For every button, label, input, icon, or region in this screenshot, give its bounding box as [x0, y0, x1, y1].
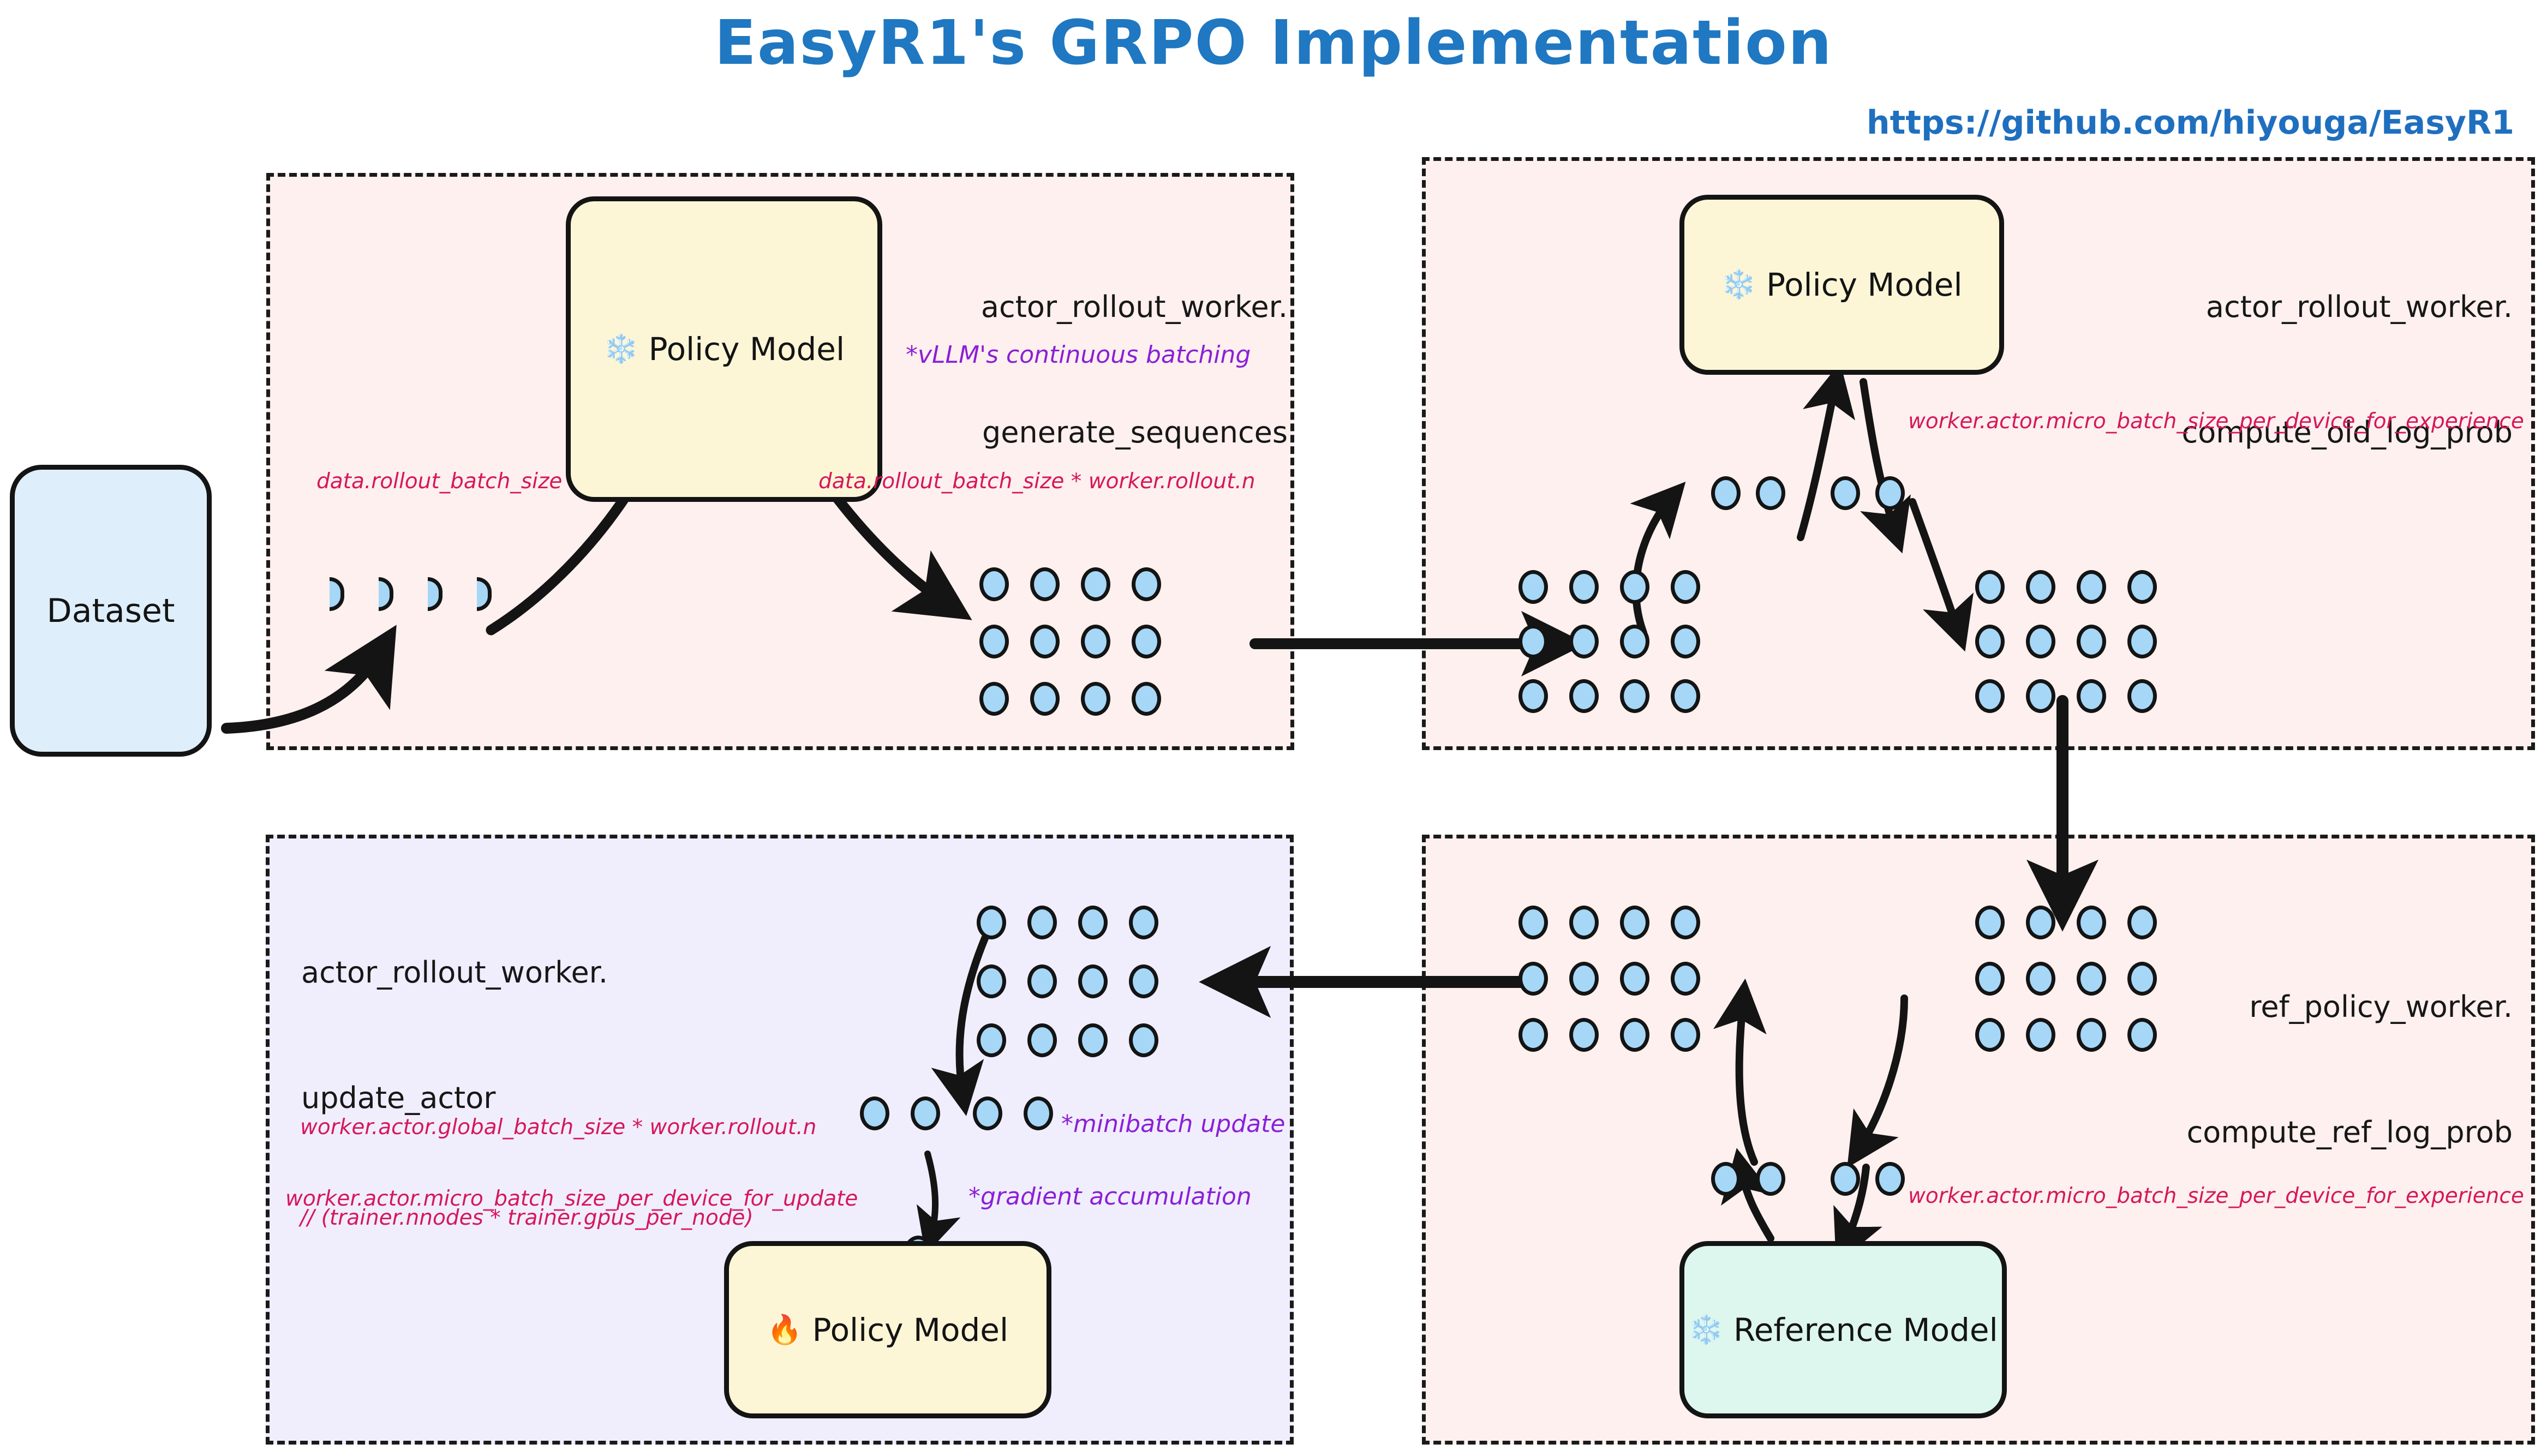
- sequence-circle: [1518, 906, 1548, 939]
- sequence-circle: [2077, 679, 2106, 713]
- sequence-circle: [1081, 625, 1110, 658]
- sequence-circle: [2077, 962, 2106, 996]
- sequence-circle: [1129, 964, 1158, 998]
- sequence-circle: [1129, 1023, 1158, 1057]
- sequence-circle: [1569, 906, 1599, 939]
- snowflake-icon: ❄️: [1721, 271, 1756, 299]
- policy-model-label: Policy Model: [812, 1311, 1008, 1349]
- sequence-circle: [2077, 906, 2106, 939]
- microbatch-circle: [1756, 1162, 1785, 1196]
- sequence-circle: [1569, 1018, 1599, 1052]
- policy-model-label: Policy Model: [1766, 266, 1962, 303]
- note-vllm-continuous-batching: *vLLM's continuous batching: [906, 338, 1251, 372]
- sequence-circle: [1081, 567, 1110, 601]
- sequence-circle: [1620, 1018, 1649, 1052]
- snowflake-icon: ❄️: [603, 335, 639, 363]
- sequence-circle: [977, 906, 1006, 939]
- minibatch-circle: [911, 1097, 940, 1130]
- sequence-circle: [2077, 625, 2106, 658]
- sequence-circle: [1671, 625, 1700, 658]
- sequence-circle: [979, 682, 1009, 716]
- policy-model-label: Policy Model: [649, 331, 845, 368]
- policy-model-box-generate[interactable]: ❄️ Policy Model: [566, 196, 882, 502]
- sequence-circle: [2127, 962, 2157, 996]
- policy-model-box-update[interactable]: 🔥 Policy Model: [724, 1241, 1051, 1418]
- config-micro-batch-experience-bottom: worker.actor.micro_batch_size_per_device…: [1908, 1181, 2524, 1211]
- sequence-circle: [2077, 570, 2106, 604]
- snowflake-icon: ❄️: [1688, 1316, 1724, 1344]
- sequence-circle: [1620, 962, 1649, 996]
- sequence-circle: [1030, 625, 1060, 658]
- minibatch-circle: [1024, 1097, 1053, 1130]
- sequence-circle: [1975, 625, 2005, 658]
- sequence-circle: [1027, 1023, 1057, 1057]
- sequence-circle: [977, 964, 1006, 998]
- sequence-circle: [1129, 906, 1158, 939]
- sequence-circle: [1975, 962, 2005, 996]
- sequence-circle: [1078, 906, 1108, 939]
- sequence-circle: [2127, 570, 2157, 604]
- fire-icon: 🔥: [767, 1316, 803, 1344]
- policy-model-box-old-logprob[interactable]: ❄️ Policy Model: [1679, 195, 2004, 375]
- sequence-circle: [2077, 1018, 2106, 1052]
- sequence-circle: [979, 625, 1009, 658]
- sequence-circle: [1132, 625, 1161, 658]
- sequence-circle: [1518, 625, 1548, 658]
- reference-model-box[interactable]: ❄️ Reference Model: [1679, 1241, 2007, 1418]
- sequence-circle: [1027, 906, 1057, 939]
- dataset-label: Dataset: [47, 592, 175, 630]
- sequence-circle: [2026, 1018, 2055, 1052]
- sequence-circle: [1975, 570, 2005, 604]
- sequence-circle: [2026, 679, 2055, 713]
- sequence-circle: [1975, 1018, 2005, 1052]
- microbatch-circle: [1875, 1162, 1905, 1196]
- sequence-circle: [1671, 962, 1700, 996]
- sequence-circle: [1518, 962, 1548, 996]
- sequence-circle: [2127, 1018, 2157, 1052]
- sequence-circle: [2127, 625, 2157, 658]
- note-gradient-accumulation: *gradient accumulation: [968, 1180, 1252, 1214]
- sequence-circle: [1081, 682, 1110, 716]
- page-title: EasyR1's GRPO Implementation: [0, 8, 2547, 79]
- sequence-circle: [1518, 1018, 1548, 1052]
- sequence-circle: [1132, 682, 1161, 716]
- microbatch-circle: [1831, 1162, 1860, 1196]
- sequence-circle: [1671, 1018, 1700, 1052]
- minibatch-circle: [973, 1097, 1002, 1130]
- sequence-circle: [1569, 679, 1599, 713]
- config-rollout-batch-size: data.rollout_batch_size: [316, 466, 562, 496]
- sequence-circle: [1569, 625, 1599, 658]
- sequence-circle: [1671, 570, 1700, 604]
- sequence-circle: [1671, 906, 1700, 939]
- reference-model-label: Reference Model: [1733, 1311, 1998, 1349]
- sequence-circle: [1975, 906, 2005, 939]
- sequence-circle: [1030, 567, 1060, 601]
- microbatch-circle: [1711, 476, 1741, 510]
- sequence-circle: [2127, 679, 2157, 713]
- sequence-circle: [2026, 625, 2055, 658]
- microbatch-circle: [1875, 476, 1905, 510]
- note-minibatch-update: *minibatch update: [1061, 1107, 1285, 1141]
- sequence-circle: [1518, 570, 1548, 604]
- sequence-circle: [2026, 570, 2055, 604]
- microbatch-circle: [1831, 476, 1860, 510]
- config-micro-batch-update: worker.actor.micro_batch_size_per_device…: [285, 1184, 858, 1214]
- sequence-circle: [2127, 906, 2157, 939]
- config-micro-batch-experience-top: worker.actor.micro_batch_size_per_device…: [1908, 406, 2524, 436]
- repo-url-link[interactable]: https://github.com/hiyouga/EasyR1: [1867, 104, 2514, 142]
- minibatch-circle: [860, 1097, 889, 1130]
- sequence-circle: [1078, 1023, 1108, 1057]
- sequence-circle: [1569, 962, 1599, 996]
- stage-label-compute-old-log-prob: actor_rollout_worker. compute_old_log_pr…: [2155, 203, 2513, 537]
- sequence-circle: [1975, 679, 2005, 713]
- config-rollout-batch-size-times-n: data.rollout_batch_size * worker.rollout…: [818, 466, 1255, 496]
- sequence-circle: [2026, 962, 2055, 996]
- sequence-circle: [1620, 906, 1649, 939]
- sequence-circle: [1030, 682, 1060, 716]
- sequence-circle: [1671, 679, 1700, 713]
- dataset-box[interactable]: Dataset: [10, 465, 212, 757]
- sequence-circle: [977, 1023, 1006, 1057]
- sequence-circle: [1569, 570, 1599, 604]
- microbatch-circle: [1711, 1162, 1741, 1196]
- sequence-circle: [1620, 625, 1649, 658]
- sequence-circle: [1620, 679, 1649, 713]
- diagram-canvas: EasyR1's GRPO Implementation https://git…: [0, 0, 2547, 1456]
- sequence-circle: [2026, 906, 2055, 939]
- sequence-circle: [1078, 964, 1108, 998]
- sequence-circle: [979, 567, 1009, 601]
- sequence-circle: [1620, 570, 1649, 604]
- sequence-circle: [1132, 567, 1161, 601]
- sequence-circle: [1518, 679, 1548, 713]
- microbatch-circle: [1756, 476, 1785, 510]
- sequence-circle: [1027, 964, 1057, 998]
